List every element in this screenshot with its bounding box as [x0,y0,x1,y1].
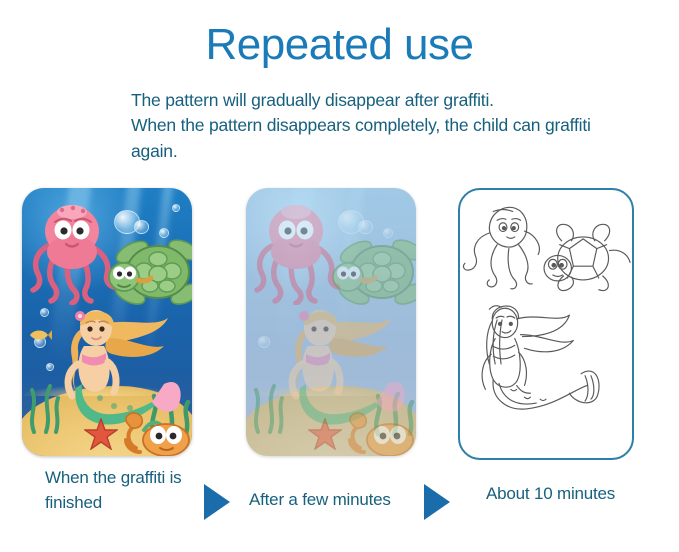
caption-panel-fading: After a few minutes [249,488,439,513]
panels-row [0,188,679,478]
subtitle-line-2: When the pattern disappears completely, … [131,113,611,164]
subtitle-block: The pattern will gradually disappear aft… [131,88,611,164]
crab-icon [122,410,192,456]
bubble-icon [134,220,149,234]
turtle-outline [544,224,630,290]
caption-panel-blank: About 10 minutes [486,482,676,507]
bubble-icon [358,220,373,234]
crab-icon [346,410,416,456]
starfish-icon [308,418,342,450]
panel-blank [458,188,634,460]
panel-fading [246,188,416,456]
page-title: Repeated use [0,22,679,68]
mermaid-icon [44,298,184,428]
bubble-icon [172,204,180,212]
starfish-icon [84,418,118,450]
caption-panel-fresh: When the graffiti is finished [45,466,220,515]
panel-fresh [22,188,192,456]
octopus-icon [30,200,116,305]
octopus-icon [254,200,340,305]
mermaid-outline [482,306,599,409]
mermaid-icon [268,298,408,428]
small-fish-icon [28,328,52,342]
octopus-outline [463,207,539,289]
outline-drawing [460,190,632,456]
subtitle-line-1: The pattern will gradually disappear aft… [131,88,611,113]
